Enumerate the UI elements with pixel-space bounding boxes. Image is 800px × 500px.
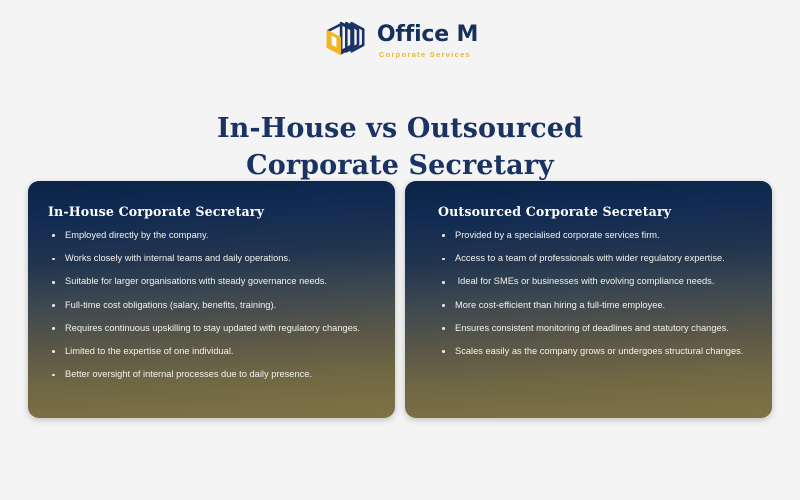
list-item: Employed directly by the company. — [48, 230, 375, 242]
list-item: Full-time cost obligations (salary, bene… — [48, 300, 375, 312]
list-item: Requires continuous upskilling to stay u… — [48, 323, 375, 335]
list-item: More cost-efficient than hiring a full-t… — [425, 300, 752, 312]
card-heading: In-House Corporate Secretary — [48, 204, 375, 219]
brand-logo: Office M Corporate Services — [0, 18, 800, 64]
page-title-line-1: In-House vs Outsourced — [217, 113, 583, 144]
page-title: In-House vs Outsourced Corporate Secreta… — [100, 110, 700, 185]
brand-name: Office M — [377, 23, 478, 46]
list-item: Access to a team of professionals with w… — [425, 253, 752, 265]
layered-cube-icon — [322, 18, 368, 64]
card-outsourced: Outsourced Corporate Secretary Provided … — [405, 181, 772, 418]
list-item: Suitable for larger organisations with s… — [48, 276, 375, 288]
brand-tagline: Corporate Services — [379, 51, 471, 59]
list-item: Provided by a specialised corporate serv… — [425, 230, 752, 242]
card-heading: Outsourced Corporate Secretary — [438, 204, 752, 219]
card-bullet-list: Provided by a specialised corporate serv… — [425, 230, 752, 358]
comparison-cards: In-House Corporate Secretary Employed di… — [28, 181, 772, 418]
brand-wordmark: Office M Corporate Services — [377, 23, 478, 59]
list-item: Ensures consistent monitoring of deadlin… — [425, 323, 752, 335]
list-item: Better oversight of internal processes d… — [48, 369, 375, 381]
list-item: Limited to the expertise of one individu… — [48, 346, 375, 358]
card-in-house: In-House Corporate Secretary Employed di… — [28, 181, 395, 418]
list-item: Ideal for SMEs or businesses with evolvi… — [425, 276, 752, 288]
page-title-line-2: Corporate Secretary — [246, 150, 554, 181]
list-item: Scales easily as the company grows or un… — [425, 346, 752, 358]
list-item: Works closely with internal teams and da… — [48, 253, 375, 265]
infographic-page: Office M Corporate Services In-House vs … — [0, 0, 800, 500]
card-bullet-list: Employed directly by the company. Works … — [48, 230, 375, 381]
